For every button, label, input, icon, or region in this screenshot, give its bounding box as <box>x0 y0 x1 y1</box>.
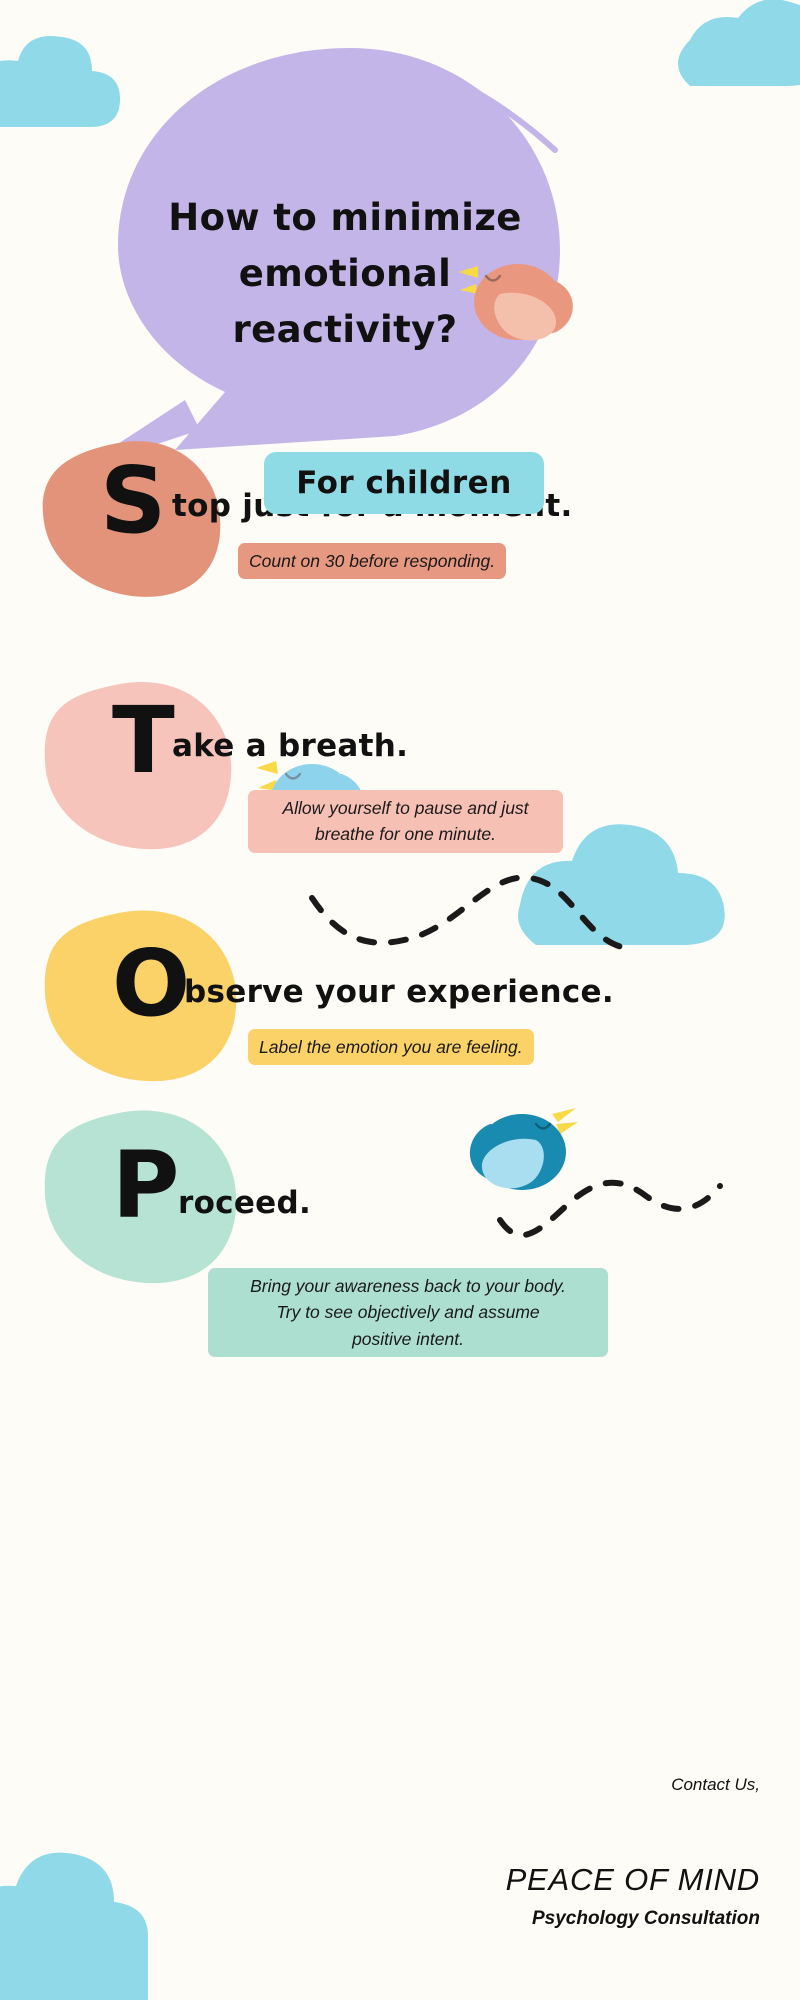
step-observe-heading: bserve your experience. <box>184 974 614 1010</box>
step-take-heading: ake a breath. <box>172 728 408 764</box>
step-observe-subtitle: Label the emotion you are feeling. <box>248 1029 534 1065</box>
step-proceed-subtitle-line-2: Try to see objectively and assume <box>276 1302 539 1322</box>
page-title-line-2: emotional <box>95 246 595 302</box>
cloud-bottom-left <box>0 1853 148 2000</box>
brand-tagline: Psychology Consultation <box>532 1908 760 1930</box>
contact-label: Contact Us, <box>671 1775 760 1795</box>
infographic-canvas: How to minimize emotional reactivity? Fo… <box>0 0 800 2000</box>
step-proceed-subtitle-line-1: Bring your awareness back to your body. <box>250 1276 566 1296</box>
step-stop-initial: S <box>100 455 166 547</box>
page-title: How to minimize emotional reactivity? <box>95 190 595 359</box>
teal-bird <box>470 1108 578 1190</box>
step-proceed-initial: P <box>112 1140 179 1232</box>
step-proceed-subtitle: Bring your awareness back to your body. … <box>208 1268 608 1357</box>
step-proceed-heading: roceed. <box>178 1185 311 1221</box>
cloud-top-right <box>678 0 800 86</box>
step-take-subtitle: Allow yourself to pause and just breathe… <box>248 790 563 853</box>
audience-badge-label: For children <box>296 465 512 501</box>
step-take-initial: T <box>112 695 175 787</box>
page-title-line-1: How to minimize <box>95 190 595 246</box>
audience-badge: For children <box>264 452 544 514</box>
step-stop-subtitle: Count on 30 before responding. <box>238 543 506 579</box>
step-take-subtitle-line-1: Allow yourself to pause and just <box>282 798 528 818</box>
dashed-path-teal <box>500 1183 720 1235</box>
step-observe-initial: O <box>112 938 190 1030</box>
brand-name: PEACE OF MIND <box>506 1862 760 1898</box>
page-title-line-3: reactivity? <box>95 302 595 358</box>
header-bubble-text: How to minimize emotional reactivity? <box>95 40 595 460</box>
step-take-subtitle-line-2: breathe for one minute. <box>315 824 496 844</box>
step-proceed-subtitle-line-3: positive intent. <box>352 1329 464 1349</box>
